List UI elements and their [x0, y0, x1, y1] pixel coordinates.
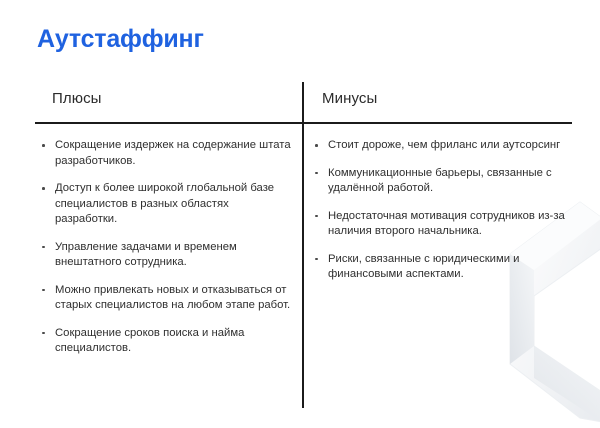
- list-item: Доступ к более широкой глобальной базе с…: [39, 181, 291, 228]
- list-item-text: Недостаточная мотивация сотрудников из-з…: [328, 210, 565, 238]
- list-item: Стоит дороже, чем фриланс или аутсорсинг: [312, 138, 570, 154]
- column-cons-header: Минусы: [322, 90, 377, 107]
- slide-canvas: Аутстаффинг Плюсы Сокращение издержек на…: [0, 0, 600, 428]
- bullet-dot-icon: [315, 172, 318, 175]
- list-item: Риски, связанные с юридическими и финанс…: [312, 252, 570, 283]
- list-item-text: Коммуникационные барьеры, связанные с уд…: [328, 167, 552, 195]
- list-item: Сокращение издержек на содержание штата …: [39, 138, 291, 169]
- bullet-dot-icon: [42, 332, 45, 335]
- list-item: Сокращение сроков поиска и найма специал…: [39, 326, 291, 357]
- list-item: Управление задачами и временем внештатно…: [39, 240, 291, 271]
- bullet-dot-icon: [42, 289, 45, 292]
- list-item: Можно привлекать новых и отказываться от…: [39, 283, 291, 314]
- list-item-text: Доступ к более широкой глобальной базе с…: [55, 182, 274, 225]
- bullet-dot-icon: [42, 246, 45, 249]
- comparison-columns: Плюсы Сокращение издержек на содержание …: [0, 0, 600, 428]
- list-item-text: Сокращение издержек на содержание штата …: [55, 139, 291, 167]
- bullet-dot-icon: [315, 215, 318, 218]
- pros-list: Сокращение издержек на содержание штата …: [39, 138, 291, 357]
- list-item: Недостаточная мотивация сотрудников из-з…: [312, 209, 570, 240]
- list-item-text: Можно привлекать новых и отказываться от…: [55, 284, 290, 312]
- column-pros-header: Плюсы: [52, 90, 102, 107]
- list-item: Коммуникационные барьеры, связанные с уд…: [312, 166, 570, 197]
- bullet-dot-icon: [315, 144, 318, 147]
- column-divider-rule: [302, 82, 304, 408]
- bullet-dot-icon: [315, 258, 318, 261]
- bullet-dot-icon: [42, 187, 45, 190]
- list-item-text: Управление задачами и временем внештатно…: [55, 241, 237, 269]
- cons-list: Стоит дороже, чем фриланс или аутсорсинг…: [312, 138, 570, 283]
- list-item-text: Сокращение сроков поиска и найма специал…: [55, 327, 244, 355]
- page-title: Аутстаффинг: [37, 25, 204, 54]
- list-item-text: Риски, связанные с юридическими и финанс…: [328, 253, 520, 281]
- bullet-dot-icon: [42, 144, 45, 147]
- list-item-text: Стоит дороже, чем фриланс или аутсорсинг: [328, 139, 560, 151]
